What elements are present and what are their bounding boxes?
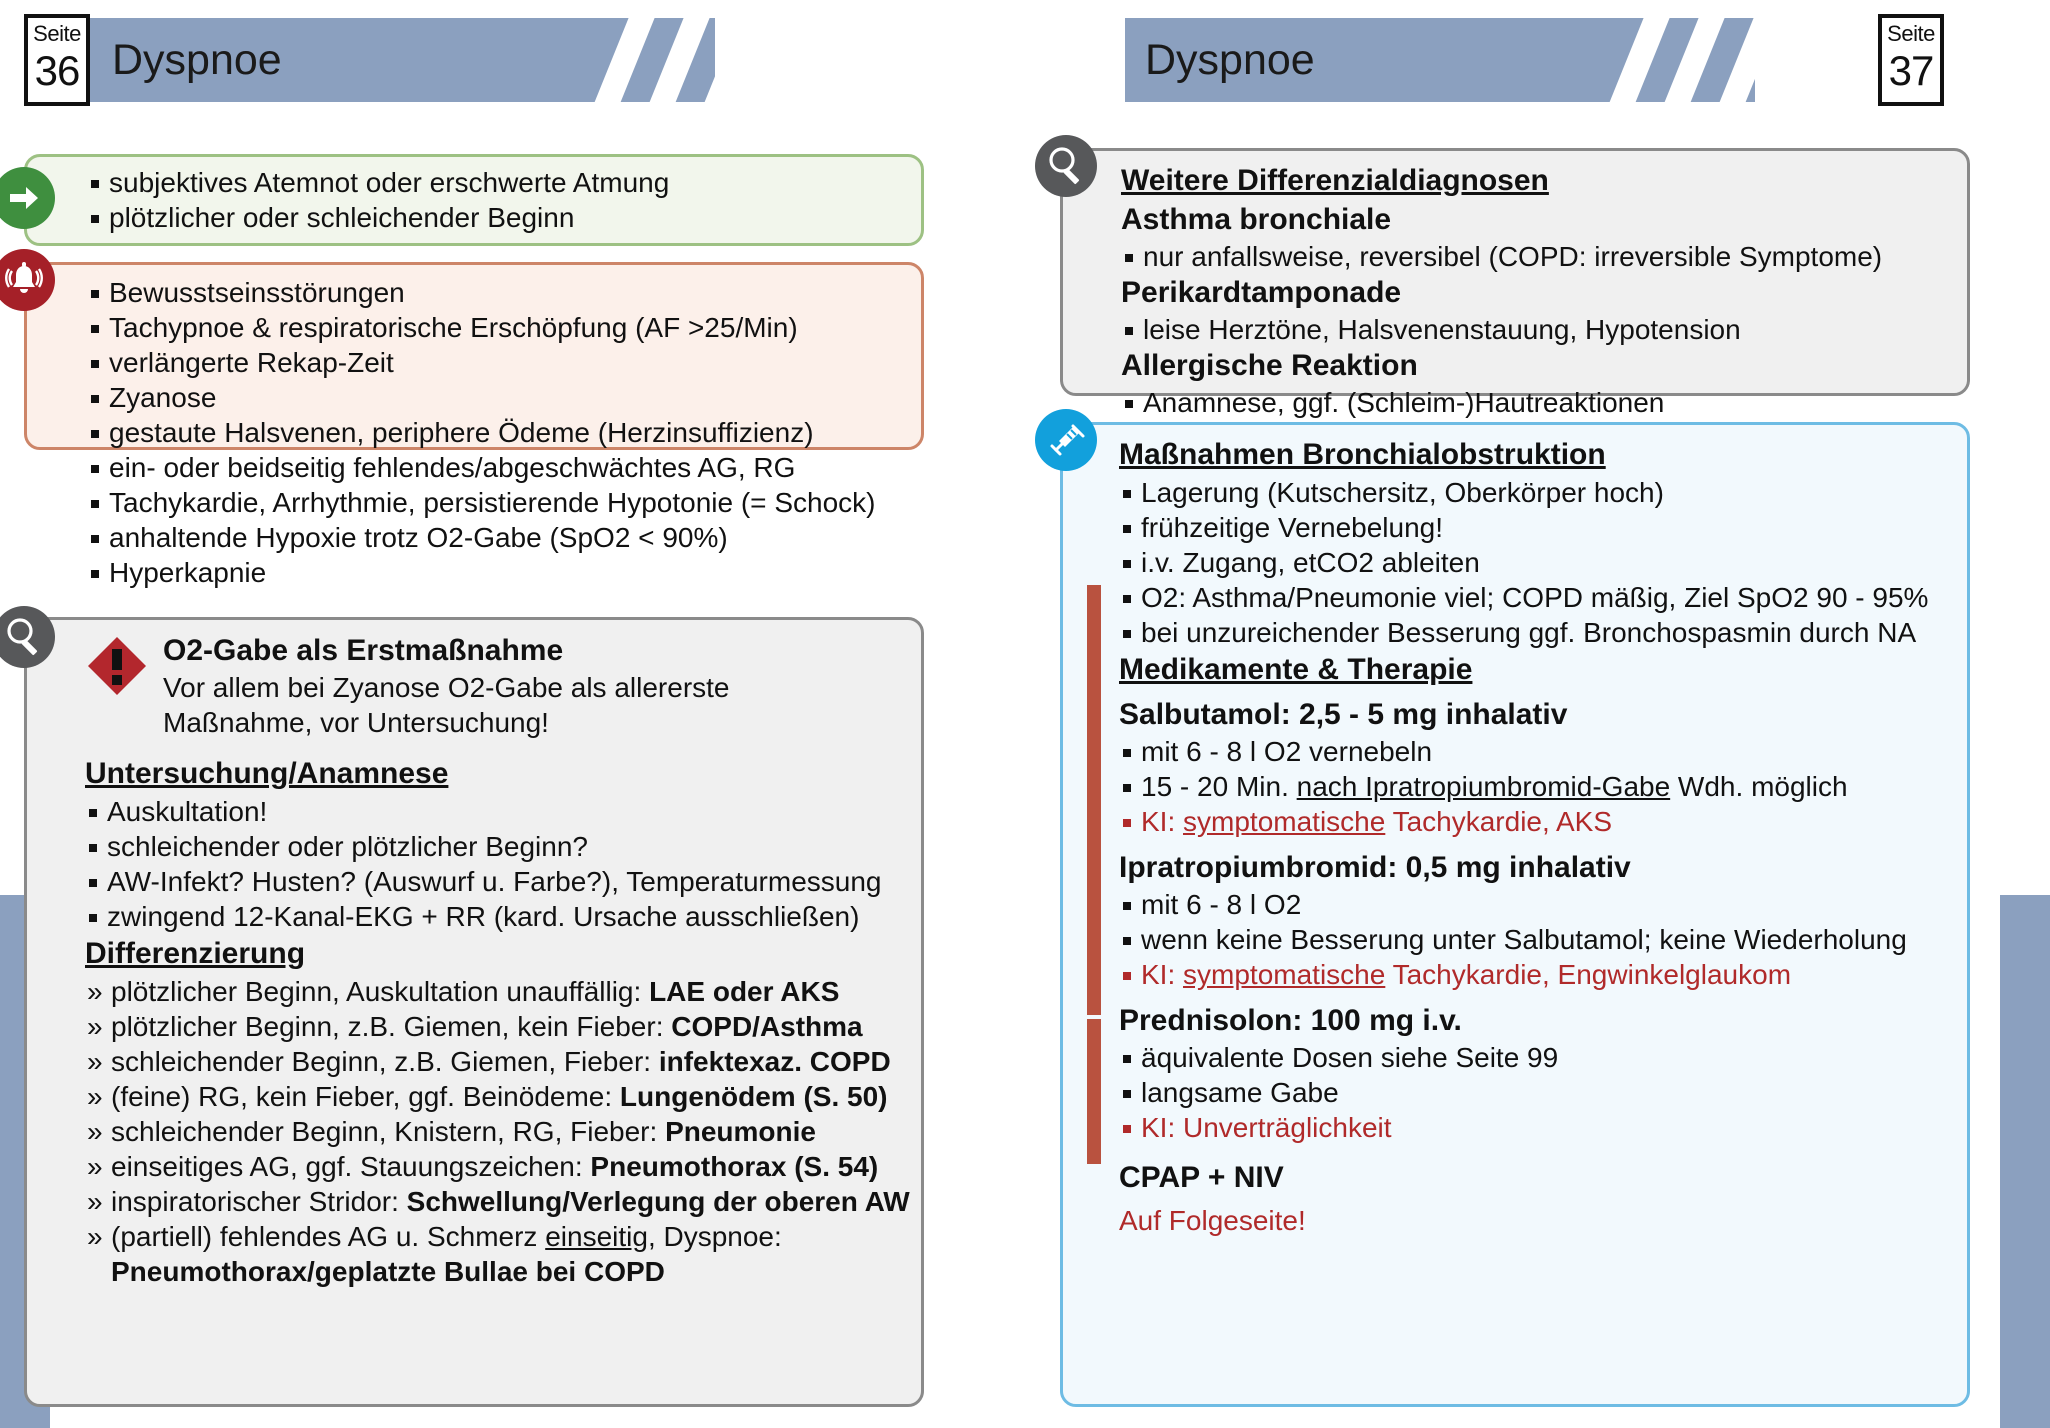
diffdiag-detail: Anamnese, ggf. (Schleim-)Hautreaktionen [1121, 385, 1949, 420]
alert-item: anhaltende Hypoxie trotz O2-Gabe (SpO2 <… [87, 520, 903, 555]
exam-item: AW-Infekt? Husten? (Auswurf u. Farbe?), … [85, 864, 903, 899]
diffdiag-detail: nur anfallsweise, reversibel (COPD: irre… [1121, 239, 1949, 274]
drug-detail: langsame Gabe [1119, 1075, 1949, 1110]
drug-detail: mit 6 - 8 l O2 [1119, 887, 1949, 922]
page-number-plate-right: Seite 37 [1878, 14, 1944, 106]
diffdiag-detail: leise Herztöne, Halsvenenstauung, Hypote… [1121, 312, 1949, 347]
drug-contraindication: KI: symptomatische Tachykardie, AKS [1119, 804, 1949, 839]
page-plate-number: 36 [35, 48, 80, 94]
exam-item: schleichender oder plötzlicher Beginn? [85, 829, 903, 864]
differential-item: (feine) RG, kein Fieber, ggf. Beinödeme:… [85, 1079, 903, 1114]
section-title-differenzierung: Differenzierung [85, 934, 903, 974]
warning-title: O2-Gabe als Erstmaßnahme [163, 632, 903, 670]
definition-card: subjektives Atemnot oder erschwerte Atmu… [24, 154, 924, 246]
measures-card: Maßnahmen Bronchialobstruktion Lagerung … [1060, 422, 1970, 1407]
differential-diagnoses-card: Weitere Differenzialdiagnosen Asthma bro… [1060, 148, 1970, 396]
header-banner-left: Dyspnoe [90, 18, 715, 102]
differential-item: schleichender Beginn, z.B. Giemen, Fiebe… [85, 1044, 903, 1079]
header-banner-right: Dyspnoe [1125, 18, 1755, 102]
page-title-left: Dyspnoe [112, 18, 282, 102]
info-card: O2-Gabe als Erstmaßnahme Vor allem bei Z… [24, 617, 924, 1407]
alert-item: Tachypnoe & respiratorische Erschöpfung … [87, 310, 903, 345]
banner-stripe [1599, 18, 1677, 102]
differential-item: einseitiges AG, ggf. Stauungszeichen: Pn… [85, 1149, 903, 1184]
alert-item: Tachykardie, Arrhythmie, persistierende … [87, 485, 903, 520]
drug-detail: mit 6 - 8 l O2 vernebeln [1119, 734, 1949, 769]
drug-contraindication: KI: Unverträglichkeit [1119, 1110, 1949, 1145]
banner-stripe [1654, 18, 1732, 102]
page-number-plate-left: Seite 36 [24, 14, 90, 106]
drug-name: Ipratropiumbromid: 0,5 mg inhalativ [1119, 849, 1949, 887]
alert-item: ein- oder beidseitig fehlendes/abgeschwä… [87, 450, 903, 485]
therapy-heading: Medikamente & Therapie [1119, 650, 1949, 690]
measure-item: i.v. Zugang, etCO2 ableiten [1119, 545, 1949, 580]
edge-tab-right [2000, 895, 2050, 1428]
banner-stripe [639, 18, 715, 102]
measure-item: bei unzureichender Besserung ggf. Bronch… [1119, 615, 1949, 650]
page-right: Dyspnoe Seite 37 Weitere Differenzialdia… [1030, 0, 2050, 1428]
diffdiag-name: Allergische Reaktion [1121, 347, 1949, 385]
measures-heading: Maßnahmen Bronchialobstruktion [1119, 435, 1949, 475]
cpap-accent-rule [1087, 1019, 1101, 1164]
drug-contraindication: KI: symptomatische Tachykardie, Engwinke… [1119, 957, 1949, 992]
alert-card: Bewusstseinsstörungen Tachypnoe & respir… [24, 262, 924, 450]
alert-item: Hyperkapnie [87, 555, 903, 590]
differential-item: schleichender Beginn, Knistern, RG, Fieb… [85, 1114, 903, 1149]
warning-diamond-icon [85, 634, 149, 698]
differential-item-continued: Pneumothorax/geplatzte Bullae bei COPD [85, 1254, 903, 1289]
definition-item: subjektives Atemnot oder erschwerte Atmu… [87, 165, 903, 200]
drug-detail: wenn keine Besserung unter Salbutamol; k… [1119, 922, 1949, 957]
exam-item: Auskultation! [85, 794, 903, 829]
page-title-right: Dyspnoe [1145, 18, 1315, 102]
drug-detail: 15 - 20 Min. nach Ipratropiumbromid-Gabe… [1119, 769, 1949, 804]
differential-item: plötzlicher Beginn, Auskultation unauffä… [85, 974, 903, 1009]
diffdiag-heading: Weitere Differenzialdiagnosen [1121, 161, 1949, 201]
drug-detail: äquivalente Dosen siehe Seite 99 [1119, 1040, 1949, 1075]
definition-item: plötzlicher oder schleichender Beginn [87, 200, 903, 235]
measure-item: O2: Asthma/Pneumonie viel; COPD mäßig, Z… [1119, 580, 1949, 615]
therapy-accent-rule [1087, 585, 1101, 1015]
diffdiag-name: Perikardtamponade [1121, 274, 1949, 312]
differential-item: inspiratorischer Stridor: Schwellung/Ver… [85, 1184, 903, 1219]
exam-item: zwingend 12-Kanal-EKG + RR (kard. Ursach… [85, 899, 903, 934]
cpap-heading: CPAP + NIV [1119, 1159, 1949, 1197]
warning-block: O2-Gabe als Erstmaßnahme Vor allem bei Z… [85, 632, 903, 740]
differential-item: (partiell) fehlendes AG u. Schmerz einse… [85, 1219, 903, 1254]
magnifier-icon [0, 606, 55, 668]
alert-item: gestaute Halsvenen, periphere Ödeme (Her… [87, 415, 903, 450]
page-plate-word: Seite [1887, 20, 1935, 48]
page-plate-number: 37 [1889, 48, 1934, 94]
cpap-note: Auf Folgeseite! [1119, 1203, 1949, 1238]
measure-item: frühzeitige Vernebelung! [1119, 510, 1949, 545]
drug-name: Prednisolon: 100 mg i.v. [1119, 1002, 1949, 1040]
warning-text: Vor allem bei Zyanose O2-Gabe als allere… [163, 670, 843, 740]
diffdiag-name: Asthma bronchiale [1121, 201, 1949, 239]
page-plate-word: Seite [33, 20, 81, 48]
measure-item: Lagerung (Kutschersitz, Oberkörper hoch) [1119, 475, 1949, 510]
banner-stripe [584, 18, 662, 102]
alert-item: Bewusstseinsstörungen [87, 275, 903, 310]
drug-name: Salbutamol: 2,5 - 5 mg inhalativ [1119, 696, 1949, 734]
differential-item: plötzlicher Beginn, z.B. Giemen, kein Fi… [85, 1009, 903, 1044]
page-left: Dyspnoe Seite 36 subjektives Atemnot ode… [0, 0, 1020, 1428]
section-title-untersuchung: Untersuchung/Anamnese [85, 754, 903, 794]
syringe-icon [1035, 409, 1097, 471]
alert-item: Zyanose [87, 380, 903, 415]
alert-item: verlängerte Rekap-Zeit [87, 345, 903, 380]
magnifier-icon [1035, 135, 1097, 197]
